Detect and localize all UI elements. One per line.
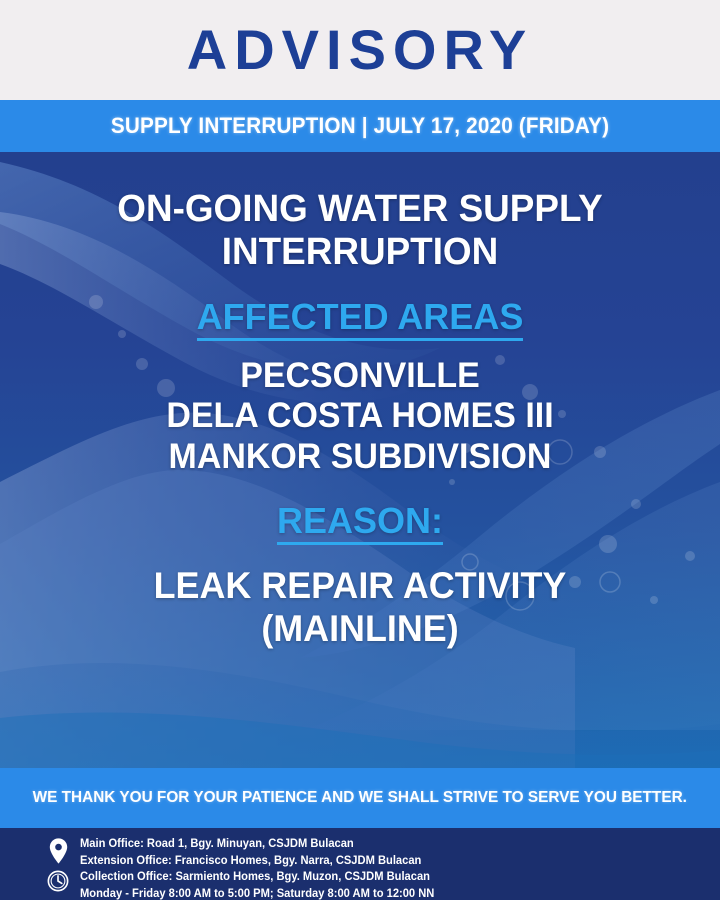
page-title: ADVISORY <box>187 22 533 78</box>
footer-line-collection-office: Collection Office: Sarmiento Homes, Bgy.… <box>80 869 434 886</box>
footer: Main Office: Road 1, Bgy. Minuyan, CSJDM… <box>0 828 720 900</box>
list-item: MANKOR SUBDIVISION <box>11 437 709 478</box>
affected-areas-label: AFFECTED AREAS <box>0 274 720 338</box>
advisory-content: ON-GOING WATER SUPPLY INTERRUPTION AFFEC… <box>0 152 720 768</box>
main-heading-line2: INTERRUPTION <box>222 231 498 273</box>
list-item: PECSONVILLE <box>11 356 709 397</box>
thank-you-message: WE THANK YOU FOR YOUR PATIENCE AND WE SH… <box>33 789 687 807</box>
footer-line-main-office: Main Office: Road 1, Bgy. Minuyan, CSJDM… <box>80 836 434 853</box>
subtitle-band: SUPPLY INTERRUPTION | JULY 17, 2020 (FRI… <box>0 100 720 152</box>
map-pin-icon <box>49 838 68 864</box>
main-heading-line1: ON-GOING WATER SUPPLY <box>117 188 602 230</box>
footer-icon-column <box>36 836 80 892</box>
footer-line-extension-office: Extension Office: Francisco Homes, Bgy. … <box>80 853 434 870</box>
affected-areas-label-text: AFFECTED AREAS <box>197 296 524 341</box>
advisory-poster: ADVISORY SUPPLY INTERRUPTION | JULY 17, … <box>0 0 720 900</box>
footer-contact-lines: Main Office: Road 1, Bgy. Minuyan, CSJDM… <box>80 836 434 900</box>
footer-row: Main Office: Road 1, Bgy. Minuyan, CSJDM… <box>36 836 445 900</box>
thank-you-band: WE THANK YOU FOR YOUR PATIENCE AND WE SH… <box>0 768 720 828</box>
main-heading: ON-GOING WATER SUPPLY INTERRUPTION <box>11 152 709 274</box>
reason-label-text: REASON: <box>277 500 443 545</box>
list-item: DELA COSTA HOMES III <box>11 396 709 437</box>
clock-icon <box>47 870 69 892</box>
header-band: ADVISORY <box>0 0 720 100</box>
footer-line-office-hours: Monday - Friday 8:00 AM to 5:00 PM; Satu… <box>80 886 434 900</box>
affected-areas-list: PECSONVILLE DELA COSTA HOMES III MANKOR … <box>11 338 709 478</box>
subtitle-text: SUPPLY INTERRUPTION | JULY 17, 2020 (FRI… <box>111 113 609 139</box>
reason-label: REASON: <box>0 478 720 542</box>
reason-line1: LEAK REPAIR ACTIVITY <box>11 564 709 608</box>
reason-detail: LEAK REPAIR ACTIVITY (MAINLINE) <box>11 542 709 651</box>
reason-line2: (MAINLINE) <box>11 607 709 651</box>
